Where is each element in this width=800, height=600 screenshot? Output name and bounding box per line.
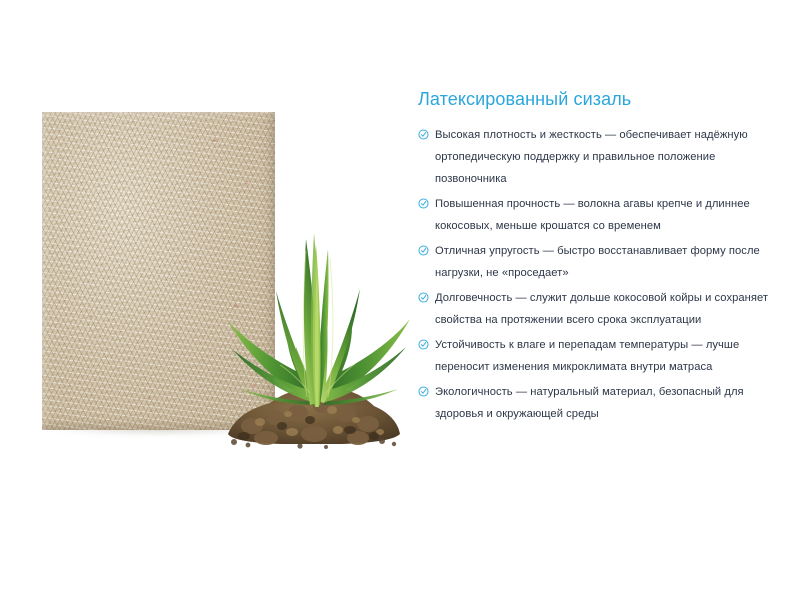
page-title: Латексированный сизаль [418, 88, 786, 110]
list-item: Устойчивость к влаге и перепадам темпера… [418, 334, 786, 378]
check-circle-icon [418, 339, 429, 350]
list-item-text: Экологичность — натуральный материал, бе… [435, 386, 744, 420]
list-item-text: Высокая плотность и жесткость — обеспечи… [435, 129, 748, 185]
check-circle-icon [418, 198, 429, 209]
check-circle-icon [418, 245, 429, 256]
check-circle-icon [418, 129, 429, 140]
list-item-text: Долговечность — служит дольше кокосовой … [435, 292, 768, 326]
list-item-text: Повышенная прочность — волокна агавы кре… [435, 198, 750, 232]
list-item: Высокая плотность и жесткость — обеспечи… [418, 124, 786, 190]
list-item: Отличная упругость — быстро восстанавлив… [418, 240, 786, 284]
feature-list: Высокая плотность и жесткость — обеспечи… [418, 124, 786, 425]
check-circle-icon [418, 292, 429, 303]
agave-plant [210, 215, 420, 435]
list-item: Повышенная прочность — волокна агавы кре… [418, 193, 786, 237]
list-item: Экологичность — натуральный материал, бе… [418, 381, 786, 425]
product-illustration [0, 0, 410, 600]
check-circle-icon [418, 386, 429, 397]
list-item-text: Устойчивость к влаге и перепадам темпера… [435, 339, 739, 373]
list-item-text: Отличная упругость — быстро восстанавлив… [435, 245, 760, 279]
feature-content: Латексированный сизаль Высокая плотность… [418, 88, 786, 428]
list-item: Долговечность — служит дольше кокосовой … [418, 287, 786, 331]
product-feature-slide: Латексированный сизаль Высокая плотность… [0, 0, 800, 600]
